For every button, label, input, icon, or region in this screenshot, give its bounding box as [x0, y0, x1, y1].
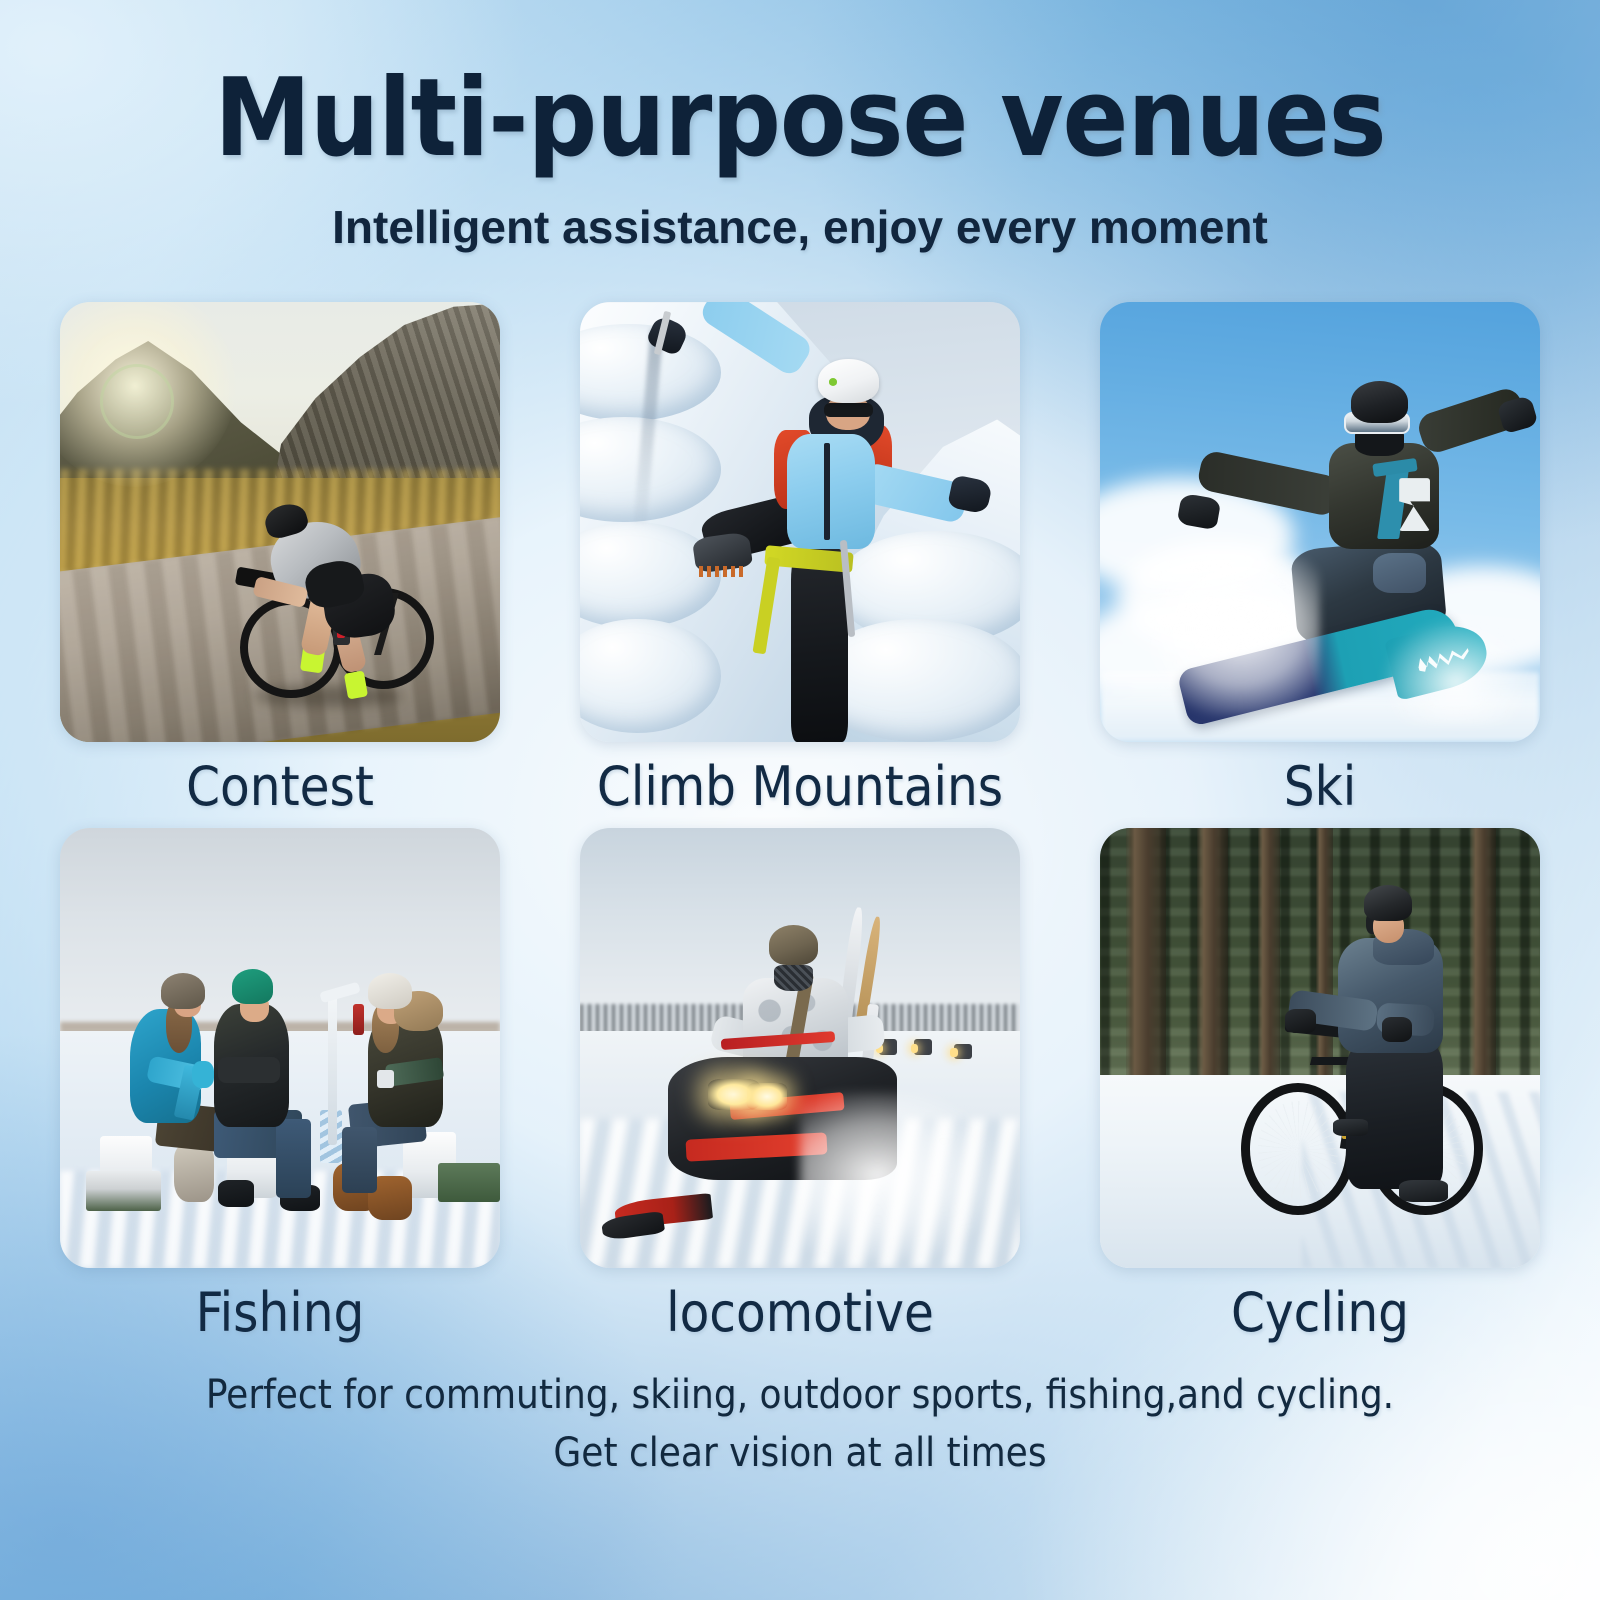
venue-label-contest: Contest [186, 756, 374, 818]
venue-card-fishing[interactable]: Fishing [60, 828, 500, 1344]
promo-page: Multi-purpose venues Intelligent assista… [0, 0, 1600, 1600]
venue-label-fishing: Fishing [196, 1282, 365, 1344]
page-subtitle: Intelligent assistance, enjoy every mome… [332, 200, 1268, 254]
scene-winter-cycling [1100, 828, 1540, 1268]
venue-card-contest[interactable]: Contest [60, 302, 500, 818]
scene-ice-fishing [60, 828, 500, 1268]
footer-line-2: Get clear vision at all times [206, 1424, 1394, 1482]
venue-image-ski [1100, 302, 1540, 742]
footer-line-1: Perfect for commuting, skiing, outdoor s… [206, 1366, 1394, 1424]
venue-image-locomotive [580, 828, 1020, 1268]
venue-label-climb-mountains: Climb Mountains [597, 756, 1003, 818]
venue-card-locomotive[interactable]: locomotive [580, 828, 1020, 1344]
scene-road-cycling [60, 302, 500, 742]
scene-ice-climbing [580, 302, 1020, 742]
venue-image-cycling [1100, 828, 1540, 1268]
venue-grid: Contest [60, 302, 1540, 1344]
venue-card-climb-mountains[interactable]: Climb Mountains [580, 302, 1020, 818]
venue-image-contest [60, 302, 500, 742]
scene-snowboarding [1100, 302, 1540, 742]
venue-label-ski: Ski [1284, 756, 1356, 818]
venue-card-ski[interactable]: Ski [1100, 302, 1540, 818]
page-title: Multi-purpose venues [214, 64, 1385, 174]
venue-image-fishing [60, 828, 500, 1268]
venue-card-cycling[interactable]: Cycling [1100, 828, 1540, 1344]
venue-label-locomotive: locomotive [666, 1282, 934, 1344]
venue-image-climb-mountains [580, 302, 1020, 742]
scene-snowmobile [580, 828, 1020, 1268]
footer-text: Perfect for commuting, skiing, outdoor s… [206, 1366, 1394, 1482]
venue-label-cycling: Cycling [1231, 1282, 1409, 1344]
